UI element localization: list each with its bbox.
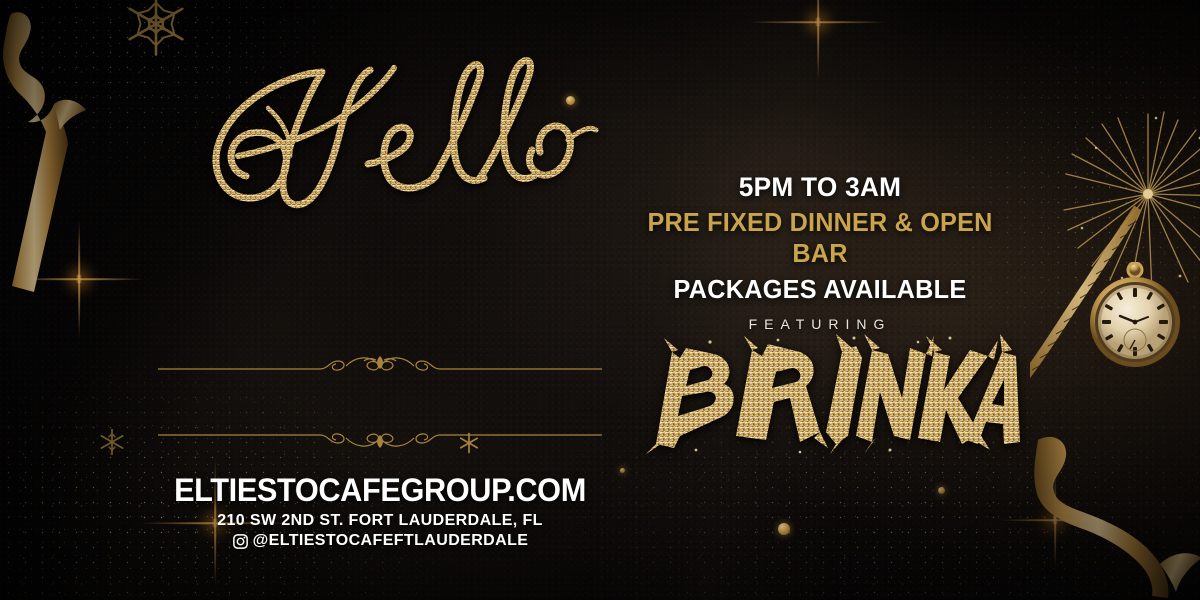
event-offer: PRE FIXED DINNER & OPEN BAR [626,207,1014,269]
hello-script-text [172,44,602,234]
featuring-label: FEATURING [620,316,1020,332]
tagline: LET'S WELCOME 2026 [141,378,619,464]
website-url[interactable]: ELTIESTOCAFEGROUP.COM [159,474,601,508]
event-info-block: 5PM TO 3AM PRE FIXED DINNER & OPEN BAR P… [620,172,1020,305]
page-subtitle: New Year [150,222,610,296]
contact-block: ELTIESTOCAFEGROUP.COM 210 SW 2ND ST. FOR… [150,474,610,550]
filigree-divider-icon [150,352,610,374]
ornament-group [150,352,610,374]
ornament-top [150,352,610,374]
event-hours: 5PM TO 3AM [626,172,1014,202]
instagram-icon [232,533,249,550]
venue-address: 210 SW 2ND ST. FORT LAUDERDALE, FL [150,512,610,530]
instagram-handle-text: @ELTIESTOCAFEFTLAUDERDALE [253,532,529,550]
artist-name [650,336,1000,454]
page-title [172,44,602,234]
event-packages: PACKAGES AVAILABLE [626,274,1014,305]
instagram-handle-row[interactable]: @ELTIESTOCAFEFTLAUDERDALE [150,532,610,550]
pocket-watch-icon [1080,262,1190,372]
brinka-logo-text [650,336,1000,454]
new-year-event-flyer: New Year LET'S WELCOME 2026 [0,0,1200,600]
